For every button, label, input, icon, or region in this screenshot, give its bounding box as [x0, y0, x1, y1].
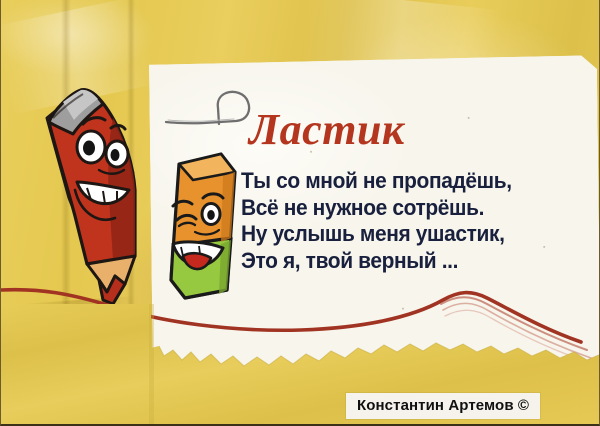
poem-line-3: Ну услышь меня ушастик,	[241, 221, 548, 248]
smiling-red-pencil-character	[29, 78, 159, 308]
credit-banner: Константин Артемов ©	[346, 393, 540, 419]
poem-line-4: Это я, твой верный ...	[241, 248, 548, 275]
winking-eraser-character	[159, 148, 245, 303]
page-title: Ластик	[249, 108, 405, 152]
paperclip-icon	[164, 84, 254, 126]
poem-line-1: Ты со мной не пропадёшь,	[241, 168, 548, 195]
poem-text: Ты со мной не пропадёшь, Всё не нужное с…	[241, 168, 548, 274]
poster-canvas: Ластик Ты со мной не пропадёшь, Всё не н…	[0, 0, 600, 426]
poem-line-2: Всё не нужное сотрёшь.	[241, 195, 548, 222]
